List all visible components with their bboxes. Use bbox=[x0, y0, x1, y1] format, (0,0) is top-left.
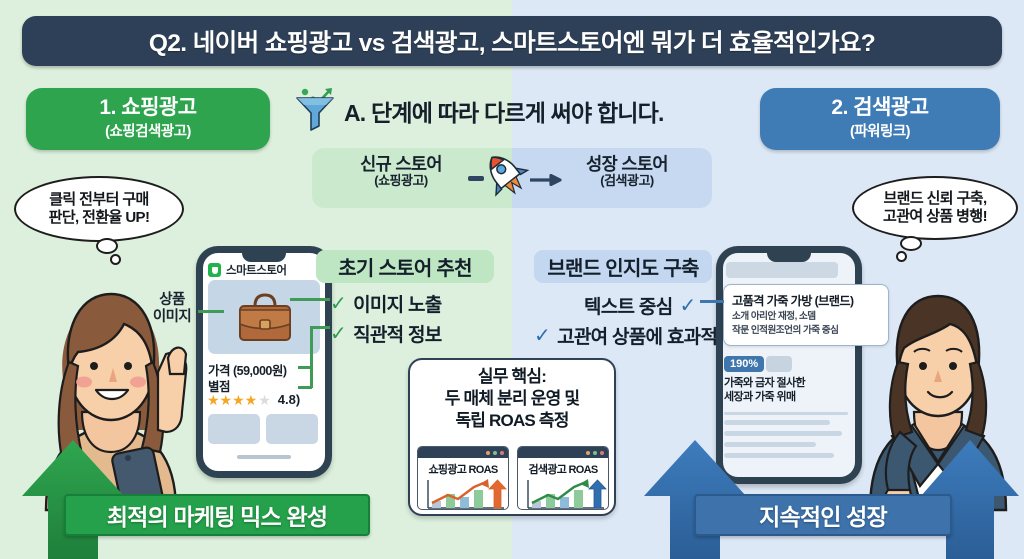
key-insight-title-line2: 두 매체 분리 운영 및 bbox=[408, 388, 616, 410]
answer-text: A. 단계에 따라 다르게 써야 합니다. bbox=[344, 94, 664, 128]
thought-bubble-left-line1: 클릭 전부터 구매 bbox=[49, 191, 149, 209]
window-dot-icon bbox=[493, 451, 497, 455]
window-dot-icon bbox=[486, 451, 490, 455]
roas-bar-chart-shopping bbox=[418, 477, 509, 510]
key-insight-title: 실무 핵심: 두 매체 분리 운영 및 독립 ROAS 측정 bbox=[408, 366, 616, 432]
stage-label-growth-store-sub: (검색광고) bbox=[552, 174, 702, 188]
smartstore-logo-icon bbox=[208, 263, 221, 277]
roas-bar-chart-search bbox=[518, 477, 609, 510]
section-header-search-ad-sub: (파워링크) bbox=[850, 120, 910, 141]
powerlink-ad-title: 고품격 가죽 가방 (브랜드) bbox=[732, 291, 880, 309]
bottom-banner-left: 최적의 마케팅 믹스 완성 bbox=[64, 494, 370, 536]
connector-check-2-vertical bbox=[310, 326, 313, 388]
connector-product-image bbox=[198, 310, 224, 313]
stage-label-growth-store-main: 성장 스토어 bbox=[552, 155, 702, 174]
callout-header-early-store: 초기 스토어 추천 bbox=[316, 250, 494, 283]
connector-check-2 bbox=[312, 326, 330, 329]
bottom-banner-left-text: 최적의 마케팅 믹스 완성 bbox=[107, 498, 327, 532]
phone-left-home-indicator bbox=[237, 455, 291, 459]
funnel-icon bbox=[292, 85, 340, 133]
leather-bag-icon bbox=[236, 292, 294, 344]
powerlink-ad-desc-line2: 작문 인적원조언의 가죽 중심 bbox=[732, 325, 880, 337]
page-title-bar: Q2. 네이버 쇼핑광고 vs 검색광고, 스마트스토어엔 뭐가 더 효율적인가… bbox=[22, 16, 1002, 66]
roas-card-titlebar bbox=[518, 447, 608, 458]
stage-label-new-store-sub: (쇼핑광고) bbox=[326, 174, 476, 188]
product-image-side-label-line1: 상품 bbox=[146, 292, 198, 309]
check-icon: ✓ bbox=[534, 326, 550, 346]
check-item-high-involvement: ✓ 고관여 상품에 효과적 bbox=[534, 322, 717, 349]
callout-header-brand-awareness: 브랜드 인지도 구축 bbox=[534, 250, 712, 283]
connector-check-1b bbox=[290, 298, 314, 301]
powerlink-ad-desc-line1: 소개 아리안 재정, 소뎀 bbox=[732, 311, 880, 323]
thought-bubble-right-tail-large bbox=[900, 236, 922, 251]
phone-right-skeleton-2 bbox=[724, 420, 830, 425]
window-dot-icon bbox=[586, 451, 590, 455]
thought-bubble-right: 브랜드 신뢰 구축, 고관여 상품 병행! bbox=[852, 176, 1018, 240]
powerlink-ad-card[interactable]: 고품격 가죽 가방 (브랜드) 소개 아리안 재정, 소뎀 작문 인적원조언의 … bbox=[723, 284, 889, 346]
connector-check-1 bbox=[314, 298, 330, 301]
phone-left-skeleton-1 bbox=[208, 414, 260, 444]
check-icon: ✓ bbox=[679, 296, 695, 316]
section-header-search-ad-main: 2. 검색광고 bbox=[831, 97, 928, 119]
roas-chart-label-shopping: 쇼핑광고 ROAS bbox=[418, 461, 508, 477]
roas-chart-label-search: 검색광고 ROAS bbox=[518, 461, 608, 477]
check-item-intuitive-info-label: 직관적 정보 bbox=[353, 320, 441, 347]
connector-rating bbox=[298, 386, 312, 389]
window-dot-icon bbox=[600, 451, 604, 455]
phone-right-skeleton-badge bbox=[766, 356, 792, 372]
check-item-image-exposure-label: 이미지 노출 bbox=[353, 290, 441, 317]
product-image-side-label: 상품 이미지 bbox=[146, 292, 198, 327]
phone-right-skeleton-3 bbox=[724, 431, 842, 436]
thought-bubble-right-line1: 브랜드 신뢰 구축, bbox=[883, 190, 986, 208]
connector-text-centric bbox=[700, 300, 724, 303]
thought-bubble-left: 클릭 전부터 구매 판단, 전환율 UP! bbox=[14, 176, 184, 242]
infographic-canvas: Q2. 네이버 쇼핑광고 vs 검색광고, 스마트스토어엔 뭐가 더 효율적인가… bbox=[0, 0, 1024, 559]
section-header-shopping-ad: 1. 쇼핑광고 (쇼핑검색광고) bbox=[26, 88, 270, 150]
check-icon: ✓ bbox=[330, 294, 346, 314]
percent-badge: 190% bbox=[724, 356, 764, 372]
window-dot-icon bbox=[500, 451, 504, 455]
check-item-high-involvement-label: 고관여 상품에 효과적 bbox=[557, 322, 717, 349]
star-half: ★ bbox=[258, 393, 271, 407]
phone-left-skeleton-2 bbox=[266, 414, 318, 444]
powerlink-ad-sub-line2: 세장과 가죽 위매 bbox=[724, 390, 805, 404]
stage-label-growth-store: 성장 스토어 (검색광고) bbox=[552, 155, 702, 188]
roas-chart-card-search: 검색광고 ROAS bbox=[517, 446, 609, 510]
bottom-banner-right-text: 지속적인 성장 bbox=[759, 498, 887, 532]
powerlink-ad-sub-line1: 가죽와 금자 절사한 bbox=[724, 376, 805, 390]
section-header-search-ad: 2. 검색광고 (파워링크) bbox=[760, 88, 1000, 150]
check-item-image-exposure: ✓ 이미지 노출 bbox=[330, 290, 442, 317]
powerlink-ad-sub: 가죽와 금자 절사한 세장과 가죽 위매 bbox=[724, 376, 805, 405]
check-item-text-centric: ✓ 텍스트 중심 bbox=[584, 292, 696, 319]
phone-left-notch bbox=[242, 253, 286, 262]
smartstore-name: 스마트스토어 bbox=[226, 262, 286, 278]
stage-arrow-icon bbox=[530, 174, 564, 186]
product-image-side-label-line2: 이미지 bbox=[146, 309, 198, 326]
check-item-text-centric-label: 텍스트 중심 bbox=[584, 292, 672, 319]
check-icon: ✓ bbox=[330, 324, 346, 344]
phone-right-notch bbox=[767, 253, 811, 262]
thought-bubble-right-line2: 고관여 상품 병행! bbox=[883, 208, 987, 226]
thought-bubble-left-tail-large bbox=[96, 238, 118, 254]
phone-right-skeleton-1 bbox=[724, 412, 848, 415]
page-title: Q2. 네이버 쇼핑광고 vs 검색광고, 스마트스토어엔 뭐가 더 효율적인가… bbox=[149, 24, 875, 59]
smartstore-header: 스마트스토어 bbox=[208, 262, 286, 278]
rocket-icon bbox=[474, 152, 534, 200]
roas-chart-card-shopping: 쇼핑광고 ROAS bbox=[417, 446, 509, 510]
key-insight-title-line1: 실무 핵심: bbox=[408, 366, 616, 388]
stage-label-new-store: 신규 스토어 (쇼핑광고) bbox=[326, 155, 476, 188]
section-header-shopping-ad-sub: (쇼핑검색광고) bbox=[105, 120, 191, 141]
window-dot-icon bbox=[593, 451, 597, 455]
product-rating-value: 4.8) bbox=[278, 392, 300, 407]
product-rating-stars: ★★★★ ★ 4.8) bbox=[207, 392, 300, 407]
thought-bubble-left-line2: 판단, 전환율 UP! bbox=[49, 209, 150, 227]
star-filled-group: ★★★★ bbox=[207, 393, 257, 407]
section-header-shopping-ad-main: 1. 쇼핑광고 bbox=[99, 97, 196, 119]
check-item-intuitive-info: ✓ 직관적 정보 bbox=[330, 320, 442, 347]
roas-card-titlebar bbox=[418, 447, 508, 458]
connector-price bbox=[298, 366, 312, 369]
bottom-banner-right: 지속적인 성장 bbox=[694, 494, 952, 536]
stage-label-new-store-main: 신규 스토어 bbox=[326, 155, 476, 174]
key-insight-title-line3: 독립 ROAS 측정 bbox=[408, 410, 616, 432]
search-bar-placeholder[interactable] bbox=[726, 262, 838, 278]
